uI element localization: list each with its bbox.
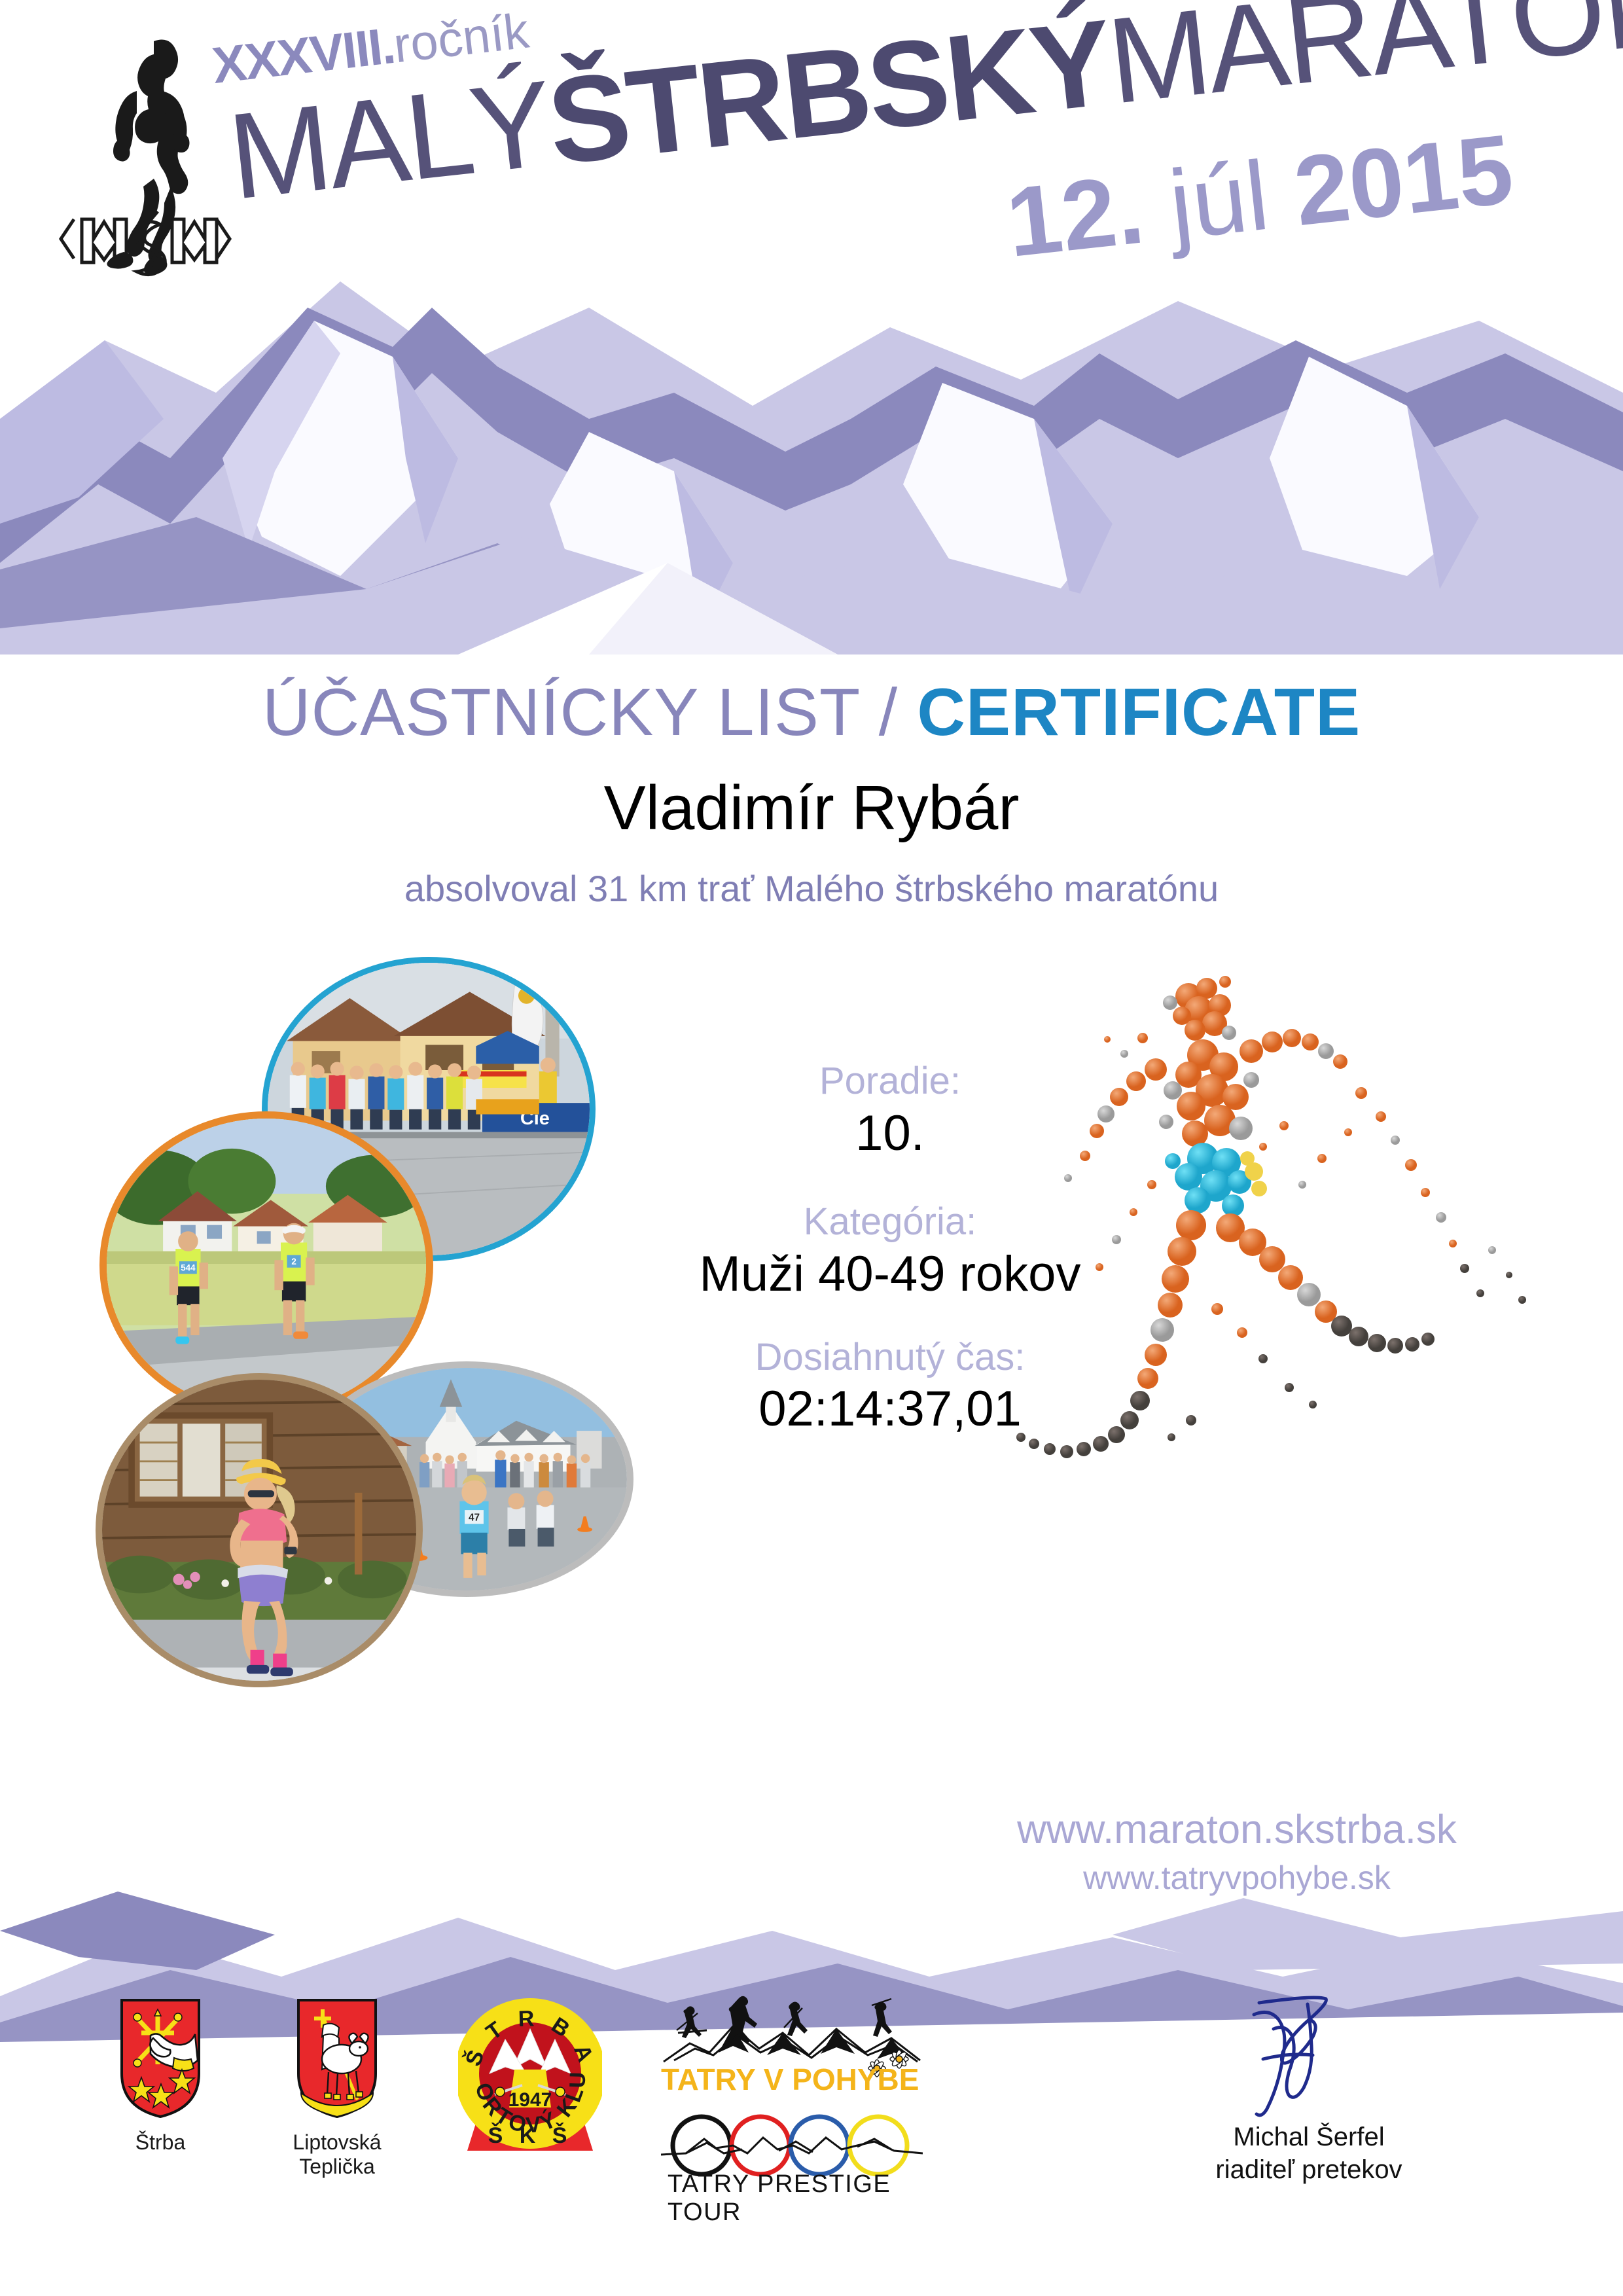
signature-role: riaditeľ pretekov <box>1099 2153 1518 2186</box>
header-banner: XXXVIII.ročník MALÝŠTRBSKÝMARATÓN 12. jú… <box>0 0 1623 655</box>
certificate-heading-en: CERTIFICATE <box>917 675 1361 749</box>
sks-logo-block: Š T R B A ŠPORTOVÝ KLUB 1947 Š K Š <box>458 1996 628 2163</box>
runner-bubble-artwork <box>995 962 1558 1715</box>
certificate-heading-separator: / <box>879 675 898 749</box>
sks-year: 1947 <box>508 2089 552 2111</box>
ring-blue <box>791 2117 848 2174</box>
event-date-day: 12. <box>1001 153 1149 278</box>
certificate-heading-sk: ÚČASTNÍCKY LIST <box>262 675 859 749</box>
svg-text:47: 47 <box>469 1512 480 1523</box>
signature-name: Michal Šerfel <box>1099 2121 1518 2153</box>
crest-liptovska-teplicka <box>294 1996 380 2121</box>
participant-name: Vladimír Rybár <box>0 772 1623 844</box>
svg-text:2: 2 <box>291 1257 296 1266</box>
primary-website-link[interactable]: www.maraton.skstrba.sk <box>942 1806 1531 1853</box>
sks-abbrev: Š K Š <box>488 2123 573 2148</box>
crest-liptovska-teplicka-block: Liptovská Teplička <box>262 1996 412 2179</box>
handwritten-signature <box>1191 1990 1427 2121</box>
certificate-page: XXXVIII.ročník MALÝŠTRBSKÝMARATÓN 12. jú… <box>0 0 1623 2296</box>
photo-woman-runner <box>96 1373 423 1687</box>
crest-strba-label: Štrba <box>98 2130 223 2155</box>
svg-text:544: 544 <box>181 1263 196 1273</box>
signature-block: Michal Šerfel riaditeľ pretekov <box>1099 1990 1518 2186</box>
tatry-prestige-tour-label: TATRY PRESTIGE TOUR <box>668 2170 936 2227</box>
crest-strba <box>118 1996 203 2121</box>
event-date-month: júl <box>1164 140 1274 260</box>
tatry-v-pohybe-block: TATRY V POHYBE <box>661 1990 936 2085</box>
sks-logo: Š T R B A ŠPORTOVÝ KLUB 1947 Š K Š <box>458 1996 602 2160</box>
certificate-heading: ÚČASTNÍCKY LIST / CERTIFICATE <box>0 674 1623 751</box>
crest-strba-block: Štrba <box>98 1996 223 2155</box>
tatry-v-pohybe-label: TATRY V POHYBE <box>661 2062 919 2097</box>
msm-runner-logo <box>56 23 232 278</box>
certificate-subtitle: absolvoval 31 km trať Malého štrbského m… <box>0 867 1623 910</box>
crest-liptovska-teplicka-label: Liptovská Teplička <box>262 2130 412 2179</box>
ring-red <box>732 2117 789 2174</box>
event-date-year: 2015 <box>1289 113 1518 246</box>
tatry-prestige-tour-block: TATRY PRESTIGE TOUR <box>661 2108 936 2189</box>
